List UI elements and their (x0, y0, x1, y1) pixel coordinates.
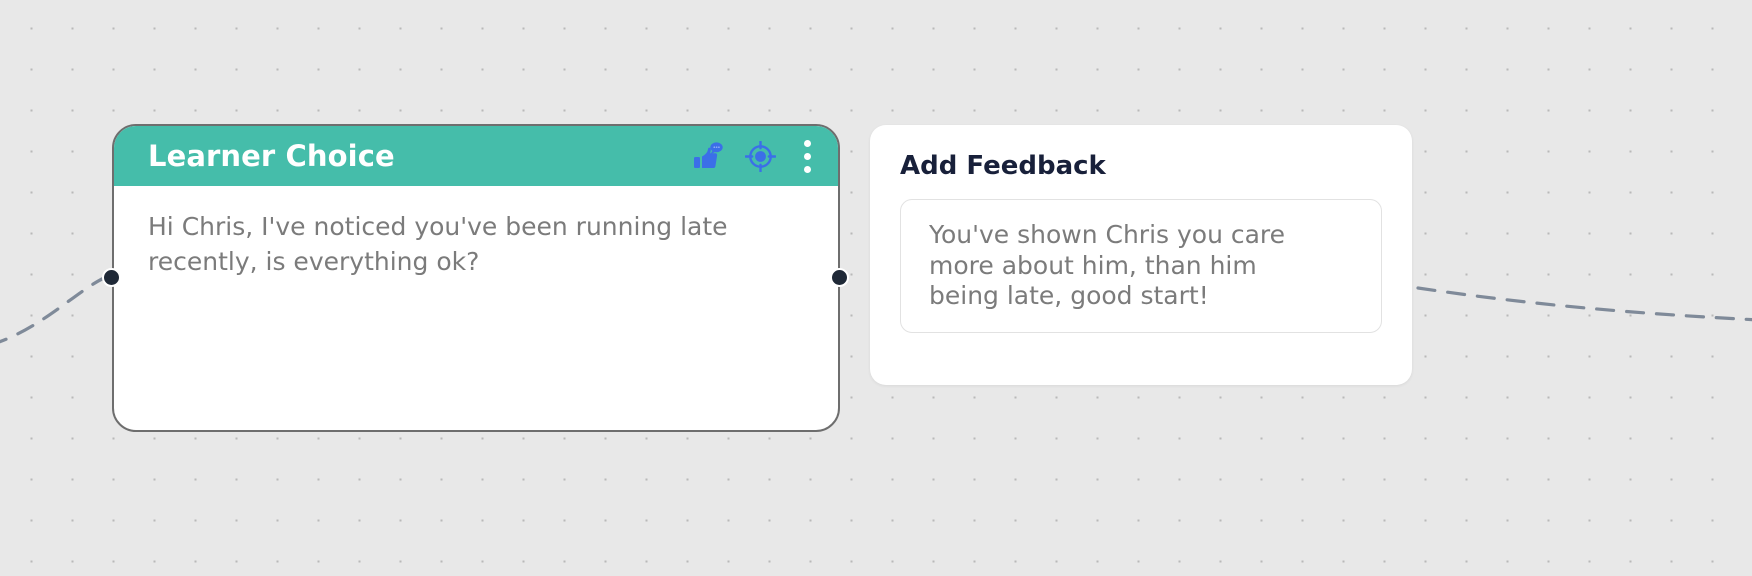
menu-dot (804, 140, 811, 147)
feedback-input-box[interactable]: You've shown Chris you care more about h… (900, 199, 1382, 333)
add-feedback-title: Add Feedback (900, 151, 1382, 181)
menu-dot (804, 153, 811, 160)
thumbs-up-comment-icon[interactable] (692, 140, 724, 172)
node-output-port[interactable] (830, 268, 849, 287)
flow-canvas[interactable]: Learner Choice (0, 0, 1752, 576)
node-message-text: Hi Chris, I've noticed you've been runni… (148, 210, 768, 279)
edge-outgoing (1418, 288, 1752, 320)
edge-incoming (0, 278, 104, 345)
add-feedback-panel[interactable]: Add Feedback You've shown Chris you care… (870, 125, 1412, 385)
learner-choice-node[interactable]: Learner Choice (112, 124, 840, 432)
node-header: Learner Choice (114, 126, 838, 186)
menu-dot (804, 166, 811, 173)
node-title: Learner Choice (148, 139, 395, 173)
target-crosshair-icon[interactable] (744, 140, 776, 172)
node-input-port[interactable] (102, 268, 121, 287)
node-body: Hi Chris, I've noticed you've been runni… (114, 186, 838, 279)
more-options-icon[interactable] (796, 139, 818, 173)
node-header-actions (692, 139, 818, 173)
feedback-text: You've shown Chris you care more about h… (929, 220, 1353, 312)
